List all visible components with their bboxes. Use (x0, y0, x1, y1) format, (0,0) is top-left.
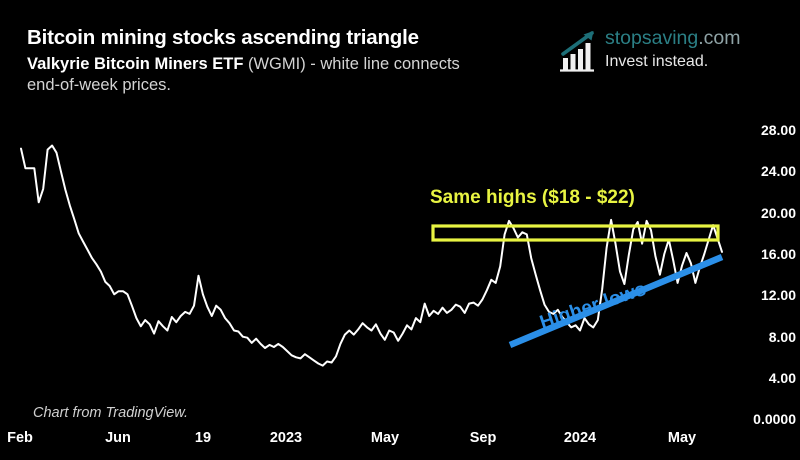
header: Bitcoin mining stocks ascending triangle… (0, 0, 800, 112)
y-axis: 28.0024.0020.0016.0012.008.004.000.0000 (726, 112, 800, 432)
title-block: Bitcoin mining stocks ascending triangle… (27, 26, 537, 96)
subtitle-bold-part: Valkyrie Bitcoin Miners ETF (27, 55, 243, 73)
y-axis-tick-label: 20.00 (726, 205, 796, 221)
brand-tagline: Invest instead. (605, 51, 741, 72)
y-axis-tick-label: 4.00 (726, 370, 796, 386)
page-title: Bitcoin mining stocks ascending triangle (27, 26, 537, 50)
brand-text: stopsaving.com Invest instead. (605, 26, 741, 72)
x-axis-tick-label: Jun (105, 430, 131, 446)
brand-name: stopsaving.com (605, 27, 741, 49)
brand-name-tld: .com (698, 27, 740, 49)
chart-screenshot: Bitcoin mining stocks ascending triangle… (0, 0, 800, 460)
price-line-svg (0, 112, 800, 422)
annotation-same-highs: Same highs ($18 - $22) (430, 187, 635, 209)
x-axis: FebJun192023MaySep2024May (0, 430, 800, 454)
x-axis-tick-label: Sep (470, 430, 497, 446)
y-axis-tick-label: 28.00 (726, 122, 796, 138)
same-highs-resistance-box (433, 226, 718, 240)
page-subtitle: Valkyrie Bitcoin Miners ETF (WGMI) - whi… (27, 54, 497, 96)
brand-logo[interactable]: stopsaving.com Invest instead. (553, 26, 781, 78)
bar-chart-growth-icon (553, 28, 599, 72)
y-axis-tick-label: 0.0000 (726, 411, 796, 427)
price-chart-plot-area (0, 112, 800, 422)
y-axis-tick-label: 8.00 (726, 329, 796, 345)
brand-name-main: stopsaving (605, 27, 698, 49)
price-line-series (21, 146, 722, 366)
chart-source-caption: Chart from TradingView. (33, 405, 188, 421)
y-axis-tick-label: 16.00 (726, 246, 796, 262)
x-axis-tick-label: 19 (195, 430, 211, 446)
x-axis-tick-label: May (668, 430, 696, 446)
x-axis-tick-label: Feb (7, 430, 33, 446)
y-axis-tick-label: 24.00 (726, 163, 796, 179)
y-axis-tick-label: 12.00 (726, 287, 796, 303)
x-axis-tick-label: May (371, 430, 399, 446)
x-axis-tick-label: 2023 (270, 430, 302, 446)
x-axis-tick-label: 2024 (564, 430, 596, 446)
